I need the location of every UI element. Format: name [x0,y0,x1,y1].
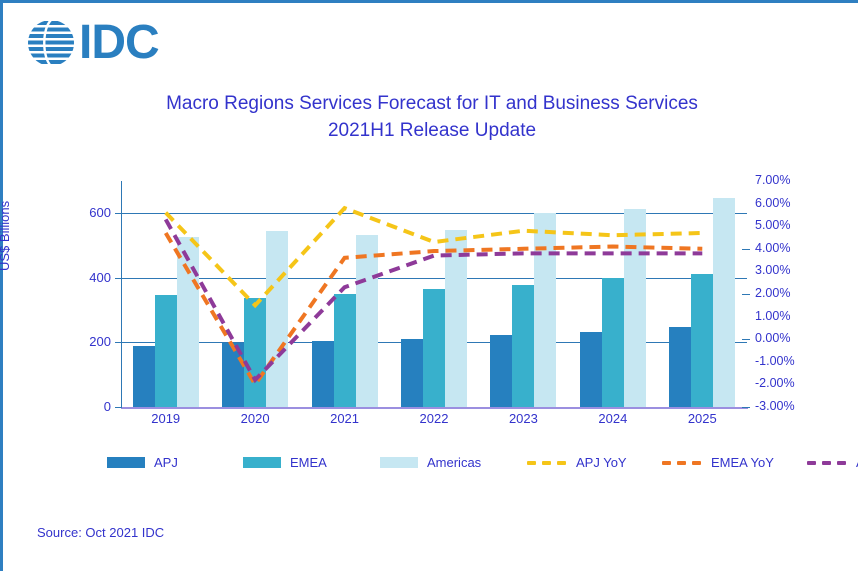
x-tick-2020: 2020 [215,411,295,426]
legend-label-emea-yoy: EMEA YoY [711,455,774,470]
bar-americas-2025 [713,198,735,407]
bar-americas-2022 [445,230,467,407]
bar-apj-2023 [490,335,512,407]
bar-emea-2022 [423,289,445,407]
title-line-1: Macro Regions Services Forecast for IT a… [3,91,858,118]
y-tick-right-0.00pct: 0.00% [755,331,790,345]
y-tick-right-2.00pct: 2.00% [755,286,790,300]
page-title: Macro Regions Services Forecast for IT a… [3,91,858,145]
y-tick-right-1.00pct: 1.00% [755,309,790,323]
y-tick-right-4.00pct: 4.00% [755,241,790,255]
x-tick-2021: 2021 [305,411,385,426]
x-tick-2019: 2019 [126,411,206,426]
y-tick-right-3.00pct: 3.00% [755,263,790,277]
x-tick-2023: 2023 [483,411,563,426]
legend-swatch-apj [107,457,145,468]
idc-logo: IDC [25,17,159,69]
bar-apj-2019 [133,346,155,407]
x-tick-2024: 2024 [573,411,653,426]
x-tick-2022: 2022 [394,411,474,426]
y-tick-right-neg1.00pct: -1.00% [755,354,795,368]
bar-americas-2024 [624,209,646,407]
bar-emea-2023 [512,285,534,407]
bar-emea-2020 [244,298,266,407]
idc-wordmark: IDC [79,19,159,67]
y-tick-right-7.00pct: 7.00% [755,173,790,187]
y-tick-right-neg3.00pct: -3.00% [755,399,795,413]
legend-swatch-americas [380,457,418,468]
bar-apj-2020 [222,343,244,407]
legend-item-americas-yoy[interactable]: Americas YoY [807,455,858,470]
gridline [121,213,747,214]
y-tick-right-6.00pct: 6.00% [755,196,790,210]
bar-apj-2021 [312,341,334,407]
source-note: Source: Oct 2021 IDC [37,525,164,540]
legend-label-emea: EMEA [290,455,327,470]
bar-apj-2025 [669,327,691,407]
y-tick-mark-right [742,339,750,340]
gridline [121,278,747,279]
title-line-2: 2021H1 Release Update [3,118,858,145]
legend-item-emea[interactable]: EMEA [243,455,327,470]
bar-apj-2024 [580,332,602,407]
legend-label-apj-yoy: APJ YoY [576,455,627,470]
legend-label-apj: APJ [154,455,178,470]
legend-item-americas[interactable]: Americas [380,455,481,470]
bar-americas-2023 [534,213,556,407]
bar-emea-2021 [334,294,356,407]
bar-apj-2022 [401,339,423,407]
bar-emea-2024 [602,278,624,407]
y-tick-left-200: 200 [47,334,111,349]
x-axis-line [121,407,748,409]
chart-legend: APJEMEAAmericasAPJ YoYEMEA YoYAmericas Y… [107,455,847,477]
chart-frame: IDC Macro Regions Services Forecast for … [0,0,858,571]
idc-globe-icon [25,17,77,69]
legend-item-apj[interactable]: APJ [107,455,178,470]
y-tick-mark-right [742,249,750,250]
bar-emea-2025 [691,274,713,407]
bar-americas-2020 [266,231,288,407]
bar-americas-2021 [356,235,378,407]
y-tick-left-600: 600 [47,205,111,220]
legend-item-apj-yoy[interactable]: APJ YoY [527,455,627,470]
legend-label-americas: Americas [427,455,481,470]
legend-swatch-emea [243,457,281,468]
y-tick-mark-right [742,294,750,295]
legend-item-emea-yoy[interactable]: EMEA YoY [662,455,774,470]
y-axis-label: US$ Billions [0,201,12,271]
bar-emea-2019 [155,295,177,407]
y-axis-line [121,181,122,408]
bar-americas-2019 [177,237,199,407]
y-tick-left-400: 400 [47,270,111,285]
y-tick-right-5.00pct: 5.00% [755,218,790,232]
y-tick-left-0: 0 [47,399,111,414]
x-tick-2025: 2025 [662,411,742,426]
y-tick-mark-left [115,407,122,408]
y-tick-right-neg2.00pct: -2.00% [755,376,795,390]
y-tick-mark-right [742,407,750,408]
